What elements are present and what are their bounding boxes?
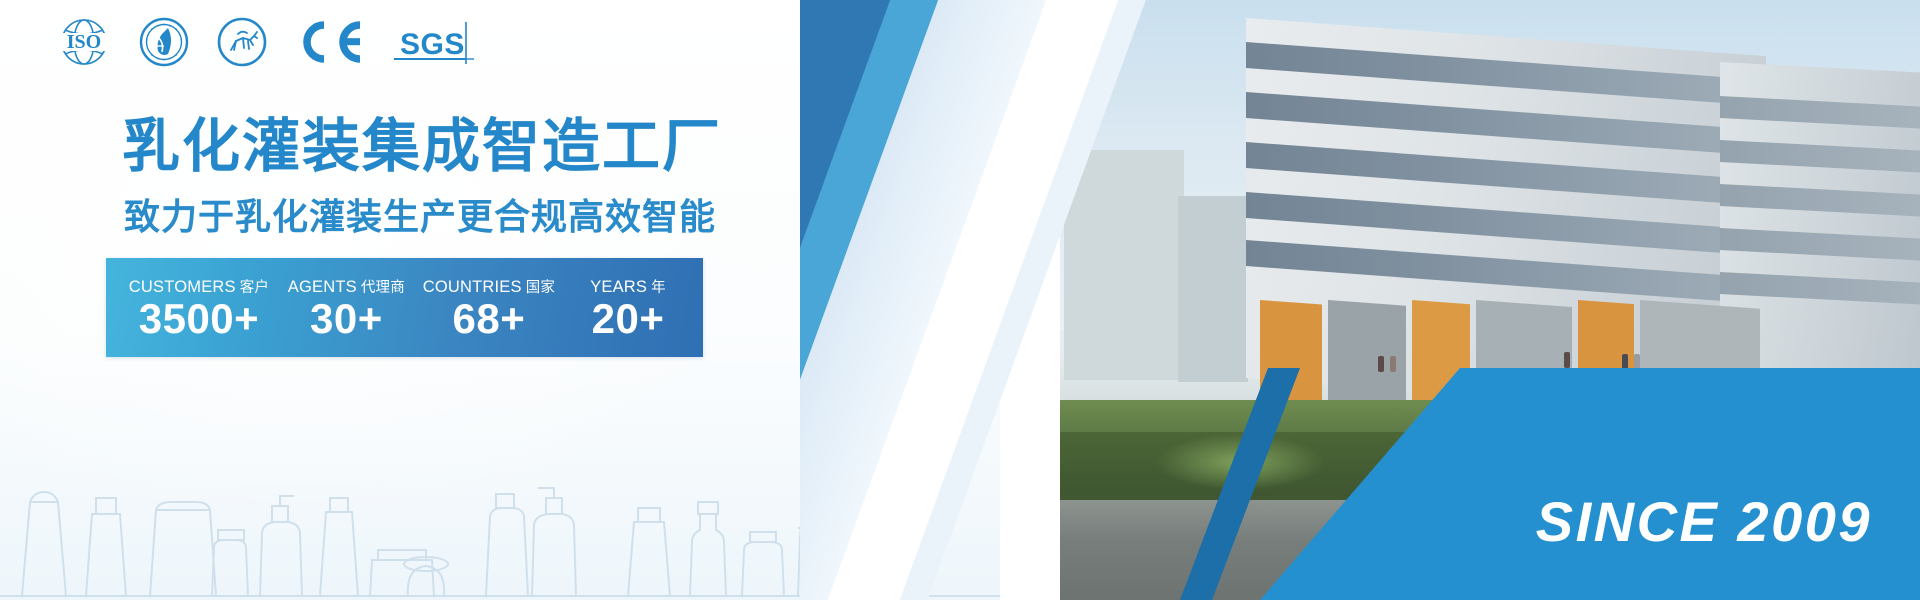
stat-label-en-countries: COUNTRIES (423, 278, 522, 296)
hero-photo-pane: SINCE 2009 (800, 0, 1920, 600)
stat-label-en-customers: CUSTOMERS (129, 278, 236, 296)
stat-value-countries: 68+ (411, 298, 567, 341)
sgs-logo-label: SGS (400, 28, 465, 61)
pedestrian (1378, 356, 1384, 372)
background-building-left (1064, 150, 1184, 380)
stat-label-customers: CUSTOMERS客户 (116, 276, 282, 297)
page-subtitle: 致力于乳化灌装生产更合规高效智能 (124, 196, 844, 237)
certification-logo-strip: ISO (56, 14, 478, 70)
pedestrian (1390, 356, 1396, 372)
sgs-logo-icon: SGS (392, 16, 478, 68)
page-title: 乳化灌装集成智造工厂 (122, 116, 842, 177)
stat-value-years: 20+ (567, 298, 689, 341)
since-ribbon-label: SINCE 2009 (1536, 489, 1872, 554)
cnas-logo-icon (138, 16, 190, 68)
stat-label-agents: AGENTS代理商 (282, 276, 411, 297)
iso-logo-icon: ISO (56, 16, 112, 68)
stat-label-en-agents: AGENTS (288, 278, 357, 296)
background-building-left2 (1178, 196, 1248, 382)
ce-logo-icon (294, 17, 366, 67)
stat-label-cn-years: 年 (651, 280, 666, 296)
hero-banner: ISO (0, 0, 1920, 600)
stat-label-countries: COUNTRIES国家 (411, 276, 567, 297)
ground-floor-panel (1328, 300, 1406, 406)
stat-label-en-years: YEARS (590, 278, 647, 296)
statistics-values-row: 3500+ 30+ 68+ 20+ (106, 298, 703, 341)
stat-value-agents: 30+ (282, 298, 411, 341)
statistics-panel: CUSTOMERS客户 AGENTS代理商 COUNTRIES国家 YEARS年… (106, 258, 703, 357)
pedestrian (1622, 354, 1628, 370)
statistics-labels-row: CUSTOMERS客户 AGENTS代理商 COUNTRIES国家 YEARS年 (106, 276, 703, 297)
stat-label-cn-customers: 客户 (240, 280, 269, 296)
pedestrian (1564, 352, 1570, 368)
stat-label-cn-agents: 代理商 (361, 280, 405, 296)
stat-value-customers: 3500+ (116, 298, 282, 341)
stat-label-years: YEARS年 (567, 276, 689, 297)
stat-label-cn-countries: 国家 (526, 280, 555, 296)
pedestrian (1634, 354, 1640, 370)
deer-logo-icon (216, 16, 268, 68)
iso-logo-label: ISO (67, 31, 101, 53)
